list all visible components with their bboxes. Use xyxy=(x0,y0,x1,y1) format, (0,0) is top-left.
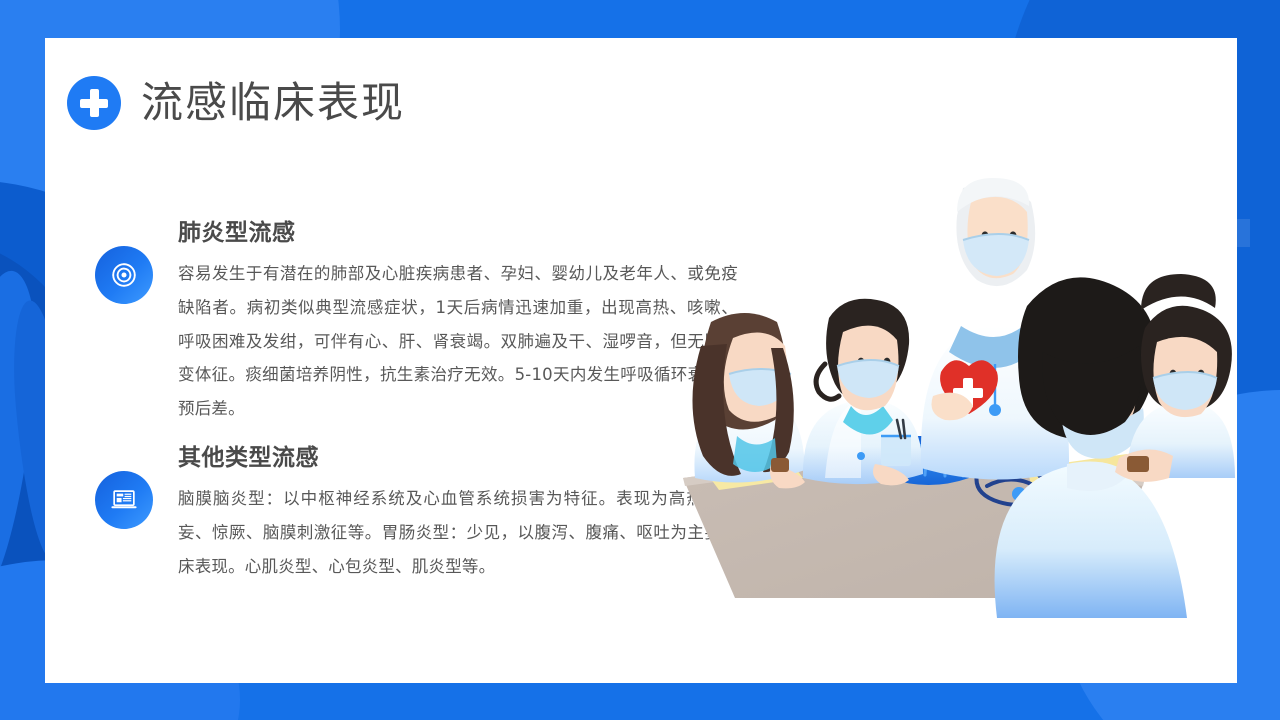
medical-team-meeting-illustration xyxy=(675,178,1235,618)
section-body: 其他类型流感 脑膜脑炎型：以中枢神经系统及心血管系统损害为特征。表现为高热、谵妄… xyxy=(178,444,738,583)
background-swoosh-outer xyxy=(0,267,47,603)
section-heading: 其他类型流感 xyxy=(178,444,738,474)
section-other-influenza: 其他类型流感 脑膜脑炎型：以中枢神经系统及心血管系统损害为特征。表现为高热、谵妄… xyxy=(95,444,738,583)
laptop-document-icon xyxy=(95,471,153,529)
page-title-row: 流感临床表现 xyxy=(67,76,405,130)
female-doctor-short-hair xyxy=(803,299,923,486)
section-pneumonia-influenza: 肺炎型流感 容易发生于有潜在的肺部及心脏疾病患者、孕妇、婴幼儿及老年人、或免疫缺… xyxy=(95,219,738,426)
medical-cross-icon xyxy=(67,76,121,130)
radar-target-icon xyxy=(95,246,153,304)
section-paragraph: 脑膜脑炎型：以中枢神经系统及心血管系统损害为特征。表现为高热、谵妄、惊厥、脑膜刺… xyxy=(178,482,738,583)
slide-canvas: 流感临床表现 xyxy=(0,0,1280,720)
wrist-watch-left xyxy=(771,458,789,472)
section-body: 肺炎型流感 容易发生于有潜在的肺部及心脏疾病患者、孕妇、婴幼儿及老年人、或免疫缺… xyxy=(178,219,738,426)
section-paragraph: 容易发生于有潜在的肺部及心脏疾病患者、孕妇、婴幼儿及老年人、或免疫缺陷者。病初类… xyxy=(178,257,738,426)
cross-horizontal-bar xyxy=(80,99,108,108)
section-heading: 肺炎型流感 xyxy=(178,219,738,249)
content-card: 流感临床表现 xyxy=(45,38,1237,683)
page-title: 流感临床表现 xyxy=(141,82,405,124)
